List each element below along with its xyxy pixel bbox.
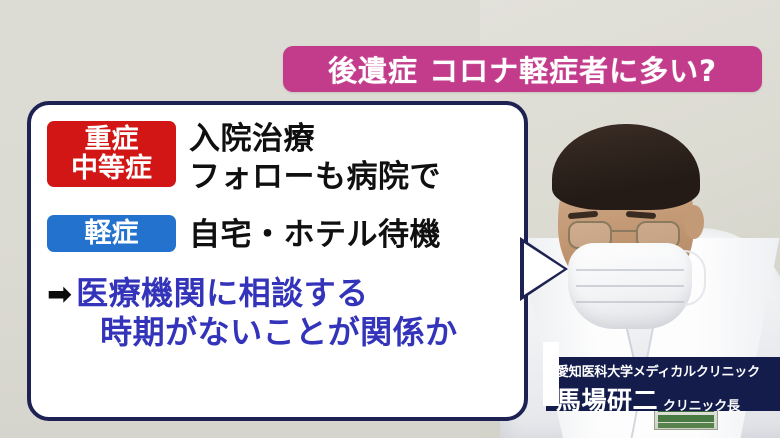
title-banner-text: 後遺症 コロナ軽症者に多い? [328,48,717,90]
badge-severe-line-1: 重症 [55,125,168,154]
id-badge-strip [658,423,714,428]
bubble-content: 重症 中等症 入院治療 フォローも病院で 軽症 自宅・ホテル待機 ➡ 医療機関に… [31,105,524,417]
severity-row-severe: 重症 中等症 入院治療 フォローも病院で [47,121,508,197]
id-badge-strip [658,415,714,422]
severity-row-mild: 軽症 自宅・ホテル待機 [47,215,508,254]
speech-bubble: 重症 中等症 入院治療 フォローも病院で 軽症 自宅・ホテル待機 ➡ 医療機関に… [27,101,528,421]
tail-seam-mask [543,342,559,406]
severe-description: 入院治療 フォローも病院で [189,121,441,197]
speaker-affiliation: 愛知医科大学メディカルクリニック [556,361,774,380]
speaker-role: クリニック長 [663,395,740,411]
speaker-caption-panel: 愛知医科大学メディカルクリニック 馬場研二 クリニック長 [546,357,780,411]
ear [684,205,704,239]
badge-mild-line-1: 軽症 [55,219,168,248]
conclusion-text: 医療機関に相談する 時期がないことが関係か [76,274,458,353]
mask-fold [576,269,684,271]
face-mask [568,243,692,329]
badge-mild: 軽症 [47,215,176,252]
badge-severe-line-2: 中等症 [55,154,168,183]
speaker-name: 馬場研二 [556,381,658,411]
mask-fold [576,301,684,303]
speech-bubble-tail-fill [524,243,564,295]
speaker-name-row: 馬場研二 クリニック長 [556,381,774,411]
broadcast-news-graphic: 後遺症 コロナ軽症者に多い? 重症 中等症 入院治療 フォローも病院で 軽症 [0,0,780,438]
title-banner: 後遺症 コロナ軽症者に多い? [283,46,762,92]
glasses-bridge [612,230,636,232]
conclusion-line-1: 医療機関に相談する [76,274,458,314]
mask-fold [576,285,684,287]
conclusion-line-2: 時期がないことが関係か [100,313,458,353]
mild-description: 自宅・ホテル待機 [189,215,441,254]
severe-description-line-2: フォローも病院で [189,159,441,197]
severe-description-line-1: 入院治療 [189,121,441,159]
badge-severe: 重症 中等症 [47,121,176,187]
arrow-right-icon: ➡ [47,274,72,310]
conclusion-block: ➡ 医療機関に相談する 時期がないことが関係か [47,274,508,353]
